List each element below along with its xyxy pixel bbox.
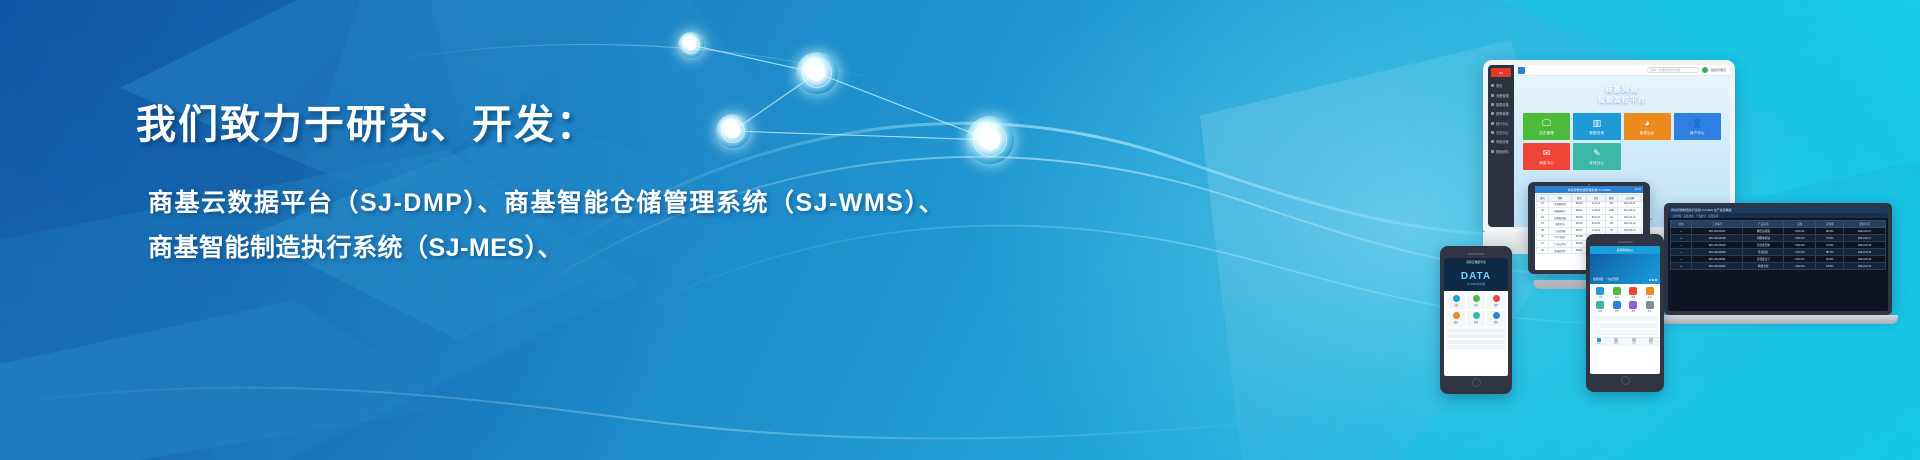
status-dot-icon: ●	[1671, 256, 1692, 263]
table-row[interactable]: 01不锈钢卷料B2103A-01-123202021-03-11	[1537, 201, 1642, 208]
shortcut-cell[interactable]: 我的	[1487, 311, 1505, 326]
shortcut-cell[interactable]: 工单	[1593, 287, 1608, 299]
sidebar-item-label: 首页	[1496, 83, 1502, 88]
table-row[interactable]: ●WO-20210317精密齿轮箱CNC-0198.2%2021-03-17	[1671, 228, 1886, 235]
table-cell: 2021-03-19	[1844, 263, 1886, 270]
nav-dot-icon	[1491, 112, 1494, 115]
tile-label: 日志管理	[1539, 130, 1554, 135]
app-sidebar: SJ 首页 设备管理 数据采集 报警管理 统计中心 日志中心 系统设置 基础资料	[1488, 65, 1514, 227]
carousel-dots	[1649, 279, 1657, 281]
shortcut-label: 采集	[1454, 303, 1458, 307]
topbar-right: 请输入您要搜索的内容 超级管理员	[1647, 67, 1726, 73]
tile-log-management[interactable]: 🖵 日志管理	[1523, 113, 1570, 140]
table-cell: 03	[1537, 214, 1549, 221]
tile-online-office[interactable]: ✎ 在线办公	[1573, 143, 1620, 170]
shortcut-icon	[1629, 287, 1637, 295]
shortcut-cell[interactable]: 报警	[1626, 287, 1641, 299]
table-cell: 06	[1537, 234, 1549, 241]
table-cell: 不锈钢卷料	[1548, 201, 1571, 208]
table-cell: 08	[1537, 247, 1549, 254]
table-header-row: 编号 物料 批次 库位 数量 入库日期	[1537, 195, 1642, 202]
tab-device-status[interactable]: 设备状态	[1683, 214, 1693, 218]
shortcut-cell[interactable]: 分析	[1467, 294, 1485, 309]
table-cell: 高强度法兰	[1743, 256, 1784, 263]
table-cell: 07	[1537, 241, 1549, 248]
speaker-icon	[1468, 253, 1484, 255]
phone-screen: 商基云数据平台 DATA SJ-DMP 移动端 采集分析预警报表设备我的	[1444, 258, 1508, 376]
shortcut-label: 工单	[1598, 296, 1602, 299]
table-cell: 320	[1605, 201, 1618, 208]
table-cell: WO-20210319	[1692, 242, 1743, 249]
tile-user-center[interactable]: 👤 用户中心	[1674, 113, 1721, 140]
list-item[interactable]	[1447, 334, 1505, 338]
office-hero-banner[interactable]: 智能制造 · 一站式管理	[1590, 254, 1660, 284]
shortcut-icon	[1596, 301, 1604, 309]
table-cell: A-02-04	[1587, 208, 1605, 215]
table-cell: 2021-03-17	[1844, 235, 1886, 242]
sidebar-nav: 首页 设备管理 数据采集 报警管理 统计中心 日志中心 系统设置 基础资料	[1488, 81, 1514, 156]
shortcut-label: 消息	[1631, 310, 1635, 313]
laptop-screen: 商基智能制造执行系统 SJ-MES 生产监控看板 工单管理 设备状态 产量统计 …	[1668, 207, 1888, 311]
col-qty: 数量	[1605, 195, 1618, 202]
nav-dot-icon	[1491, 140, 1494, 143]
sidebar-item-label: 报警管理	[1496, 111, 1509, 116]
table-cell: 2021-03-18	[1844, 249, 1886, 256]
chart-icon: ▥	[1593, 119, 1602, 128]
status-dot-icon: ●	[1671, 242, 1692, 249]
shortcut-icon	[1453, 312, 1460, 319]
shortcut-icon	[1646, 301, 1654, 309]
table-row[interactable]: ●WO-20210322精铸支架CNC-0463.8%2021-03-19	[1671, 263, 1886, 270]
table-cell: WO-20210317	[1692, 228, 1743, 235]
monitor-icon: 🖵	[1542, 119, 1551, 128]
sidebar-item[interactable]: 系统设置	[1488, 137, 1514, 146]
table-cell: 2021-03-12	[1618, 208, 1642, 215]
col-location: 库位	[1587, 195, 1605, 202]
laptop-bezel: 商基智能制造执行系统 SJ-MES 生产监控看板 工单管理 设备状态 产量统计 …	[1664, 203, 1892, 315]
wms-titlebar: 商基智能仓储管理系统 SJ-WMS 09:42	[1535, 186, 1643, 193]
tabbar-item[interactable]: 我的	[1643, 338, 1661, 346]
table-cell: 05	[1537, 227, 1549, 234]
table-cell: B2110	[1572, 247, 1587, 254]
app-topbar: 请输入您要搜索的内容 超级管理员	[1514, 65, 1730, 76]
shortcut-cell[interactable]: 库存	[1610, 287, 1625, 299]
table-cell: 76.5%	[1816, 235, 1844, 242]
table-row[interactable]: ●WO-20210318伺服电机轴CNC-0276.5%2021-03-17	[1671, 235, 1886, 242]
tile-admin-backend[interactable]: ◕ 管理后台	[1624, 113, 1671, 140]
table-cell: 63.8%	[1816, 263, 1844, 270]
table-cell: B-01-07	[1587, 214, 1605, 221]
platform-title: 商基网络 智能监控平台	[1514, 76, 1730, 106]
table-cell: 98.2%	[1816, 228, 1844, 235]
clock: 09:42	[1635, 188, 1642, 191]
table-row[interactable]: 03伺服驱动器B2105B-01-07642021-03-12	[1537, 214, 1642, 221]
carousel-dot[interactable]	[1649, 279, 1651, 281]
dmp-shortcut-grid: 采集分析预警报表设备我的	[1444, 291, 1508, 329]
shortcut-cell[interactable]: 报表	[1447, 311, 1465, 326]
shortcut-cell[interactable]: 预警	[1487, 294, 1505, 309]
tab-label: 消息	[1632, 342, 1636, 345]
col-order-no: 工单编号	[1692, 221, 1743, 228]
shortcut-cell[interactable]: 更多	[1643, 301, 1658, 313]
tile-label: 消息中心	[1539, 160, 1554, 165]
sidebar-item[interactable]: 设备管理	[1488, 90, 1514, 99]
tab-label: 首页	[1597, 342, 1601, 345]
shortcut-label: 报警	[1631, 296, 1635, 299]
sidebar-item-label: 基础资料	[1496, 149, 1509, 154]
table-cell: 88.7%	[1816, 249, 1844, 256]
list-item[interactable]	[1447, 329, 1505, 333]
hero-caption: 智能制造 · 一站式管理	[1593, 277, 1619, 281]
mes-title: 商基智能制造执行系统 SJ-MES 生产监控看板	[1671, 208, 1732, 212]
col-material: 物料	[1548, 195, 1571, 202]
office-tabbar: 首页应用消息我的	[1590, 337, 1660, 346]
table-cell: 精铸支架	[1743, 263, 1784, 270]
col-device: 设备	[1784, 221, 1816, 228]
avatar[interactable]	[1702, 67, 1708, 73]
home-button[interactable]	[1621, 376, 1630, 385]
table-cell: 气动元件包	[1548, 241, 1571, 248]
shortcut-icon	[1493, 295, 1500, 302]
shortcut-label: 设备	[1474, 320, 1478, 324]
sidebar-item-label: 设备管理	[1496, 93, 1509, 98]
list-item[interactable]	[1593, 330, 1657, 335]
list-item[interactable]	[1593, 323, 1657, 328]
list-item[interactable]	[1593, 316, 1657, 321]
table-cell: 线性导轨	[1548, 221, 1571, 228]
tile-data-query[interactable]: ▥ 数据查询	[1573, 113, 1620, 140]
table-cell: CNC-07	[1784, 256, 1816, 263]
dashboard-tiles: 🖵 日志管理 ▥ 数据查询 ◕ 管理后台	[1514, 106, 1730, 170]
mes-table: 状态 工单编号 产品名称 设备 完成率 更新时间 ●WO-20210317精密齿…	[1668, 218, 1888, 272]
table-cell: 伺服驱动器	[1548, 214, 1571, 221]
table-cell: A-01-12	[1587, 201, 1605, 208]
table-cell: WO-20210321	[1692, 256, 1743, 263]
table-cell: 150	[1605, 221, 1618, 228]
sidebar-item[interactable]: 首页	[1488, 81, 1514, 90]
banner-product-line-1: 商基云数据平台（SJ-DMP）、商基智能仓储管理系统（SJ-WMS）、	[148, 183, 945, 219]
tab-icon	[1597, 338, 1601, 342]
laptop-base	[1658, 315, 1898, 324]
sidebar-item[interactable]: 基础资料	[1488, 147, 1514, 156]
office-shortcut-grid: 工单库存报警统计设备审批消息更多	[1590, 284, 1660, 316]
tab-output-stats[interactable]: 产量统计	[1696, 214, 1706, 218]
table-row[interactable]: 04线性导轨B2106B-03-021502021-03-13	[1537, 221, 1642, 228]
col-updated: 更新时间	[1844, 221, 1886, 228]
sidebar-item-label: 数据采集	[1496, 102, 1509, 107]
tab-quality-trace[interactable]: 质量追溯	[1708, 214, 1718, 218]
user-icon: 👤	[1692, 119, 1703, 128]
table-cell: 铜接线端子	[1548, 208, 1571, 215]
nav-dot-icon	[1491, 84, 1494, 87]
shortcut-label: 设备	[1598, 310, 1602, 313]
phone-bezel: 商基云数据平台 DATA SJ-DMP 移动端 采集分析预警报表设备我的	[1440, 246, 1512, 394]
table-cell: WO-20210322	[1692, 263, 1743, 270]
nav-dot-icon	[1491, 131, 1494, 134]
table-cell: 2021-03-18	[1844, 242, 1886, 249]
dmp-list	[1444, 329, 1508, 350]
search-input[interactable]: 请输入您要搜索的内容	[1647, 67, 1699, 73]
table-row[interactable]: 02铜接线端子B2104A-02-0412802021-03-12	[1537, 208, 1642, 215]
table-cell: WO-20210318	[1692, 235, 1743, 242]
table-cell: 2021-03-13	[1618, 221, 1642, 228]
shortcut-icon	[1646, 287, 1654, 295]
col-batch: 批次	[1572, 195, 1587, 202]
table-row[interactable]: ●WO-20210319铝合金壳体CNC-0541.0%2021-03-18	[1671, 242, 1886, 249]
shortcut-cell[interactable]: 设备	[1467, 311, 1485, 326]
sidebar-item[interactable]: 统计中心	[1488, 119, 1514, 128]
table-cell: 93.4%	[1816, 256, 1844, 263]
table-cell: 2021-03-19	[1844, 256, 1886, 263]
table-cell: PLC 模块	[1548, 234, 1571, 241]
tile-message-center[interactable]: ✉ 消息中心	[1523, 143, 1570, 170]
carousel-dot[interactable]	[1652, 279, 1654, 281]
shortcut-icon	[1493, 312, 1500, 319]
table-cell: CNC-01	[1784, 228, 1816, 235]
tab-icon	[1649, 338, 1653, 342]
table-cell: 减速机组件	[1548, 247, 1571, 254]
table-header-row: 状态 工单编号 产品名称 设备 完成率 更新时间	[1671, 221, 1886, 228]
table-cell: B2109	[1572, 241, 1587, 248]
tab-icon	[1614, 338, 1618, 342]
status-dot-icon: ●	[1671, 263, 1692, 270]
table-cell: B2104	[1572, 208, 1587, 215]
dmp-hero-sub: SJ-DMP 移动端	[1444, 282, 1508, 286]
banner-headline: 我们致力于研究、开发：	[136, 92, 598, 150]
office-list	[1590, 316, 1660, 335]
device-mockup-cluster: SJ 首页 设备管理 数据采集 报警管理 统计中心 日志中心 系统设置 基础资料	[1300, 0, 1920, 460]
table-cell: WO-20210320	[1692, 249, 1743, 256]
dmp-hero: DATA SJ-DMP 移动端	[1444, 267, 1508, 291]
tabbar-item[interactable]: 应用	[1608, 338, 1626, 346]
table-row[interactable]: ●WO-20210320传动连杆CNC-0388.7%2021-03-18	[1671, 249, 1886, 256]
status-dot-icon: ●	[1671, 228, 1692, 235]
dmp-hero-title: DATA	[1444, 271, 1508, 282]
tab-label: 我的	[1649, 342, 1653, 345]
table-cell: CNC-03	[1784, 249, 1816, 256]
col-progress: 完成率	[1816, 221, 1844, 228]
list-item[interactable]	[1447, 345, 1505, 349]
shortcut-label: 审批	[1615, 310, 1619, 313]
sidebar-item-label: 系统设置	[1496, 139, 1509, 144]
col-product: 产品名称	[1743, 221, 1784, 228]
shortcut-icon	[1613, 301, 1621, 309]
user-label: 超级管理员	[1711, 68, 1726, 72]
shortcut-cell[interactable]: 消息	[1626, 301, 1641, 313]
table-cell: 伺服电机轴	[1743, 235, 1784, 242]
sidebar-item-label: 统计中心	[1496, 121, 1509, 126]
platform-title-line2: 智能监控平台	[1514, 96, 1730, 106]
list-item[interactable]	[1447, 340, 1505, 344]
shortcut-label: 统计	[1648, 296, 1652, 299]
sidebar-item[interactable]: 报警管理	[1488, 109, 1514, 118]
shortcut-label: 我的	[1494, 320, 1498, 324]
table-cell: 2021-03-11	[1618, 201, 1642, 208]
tile-label: 用户中心	[1690, 130, 1705, 135]
shortcut-label: 报表	[1454, 320, 1458, 324]
tile-label: 在线办公	[1589, 160, 1604, 165]
table-cell: B2107	[1572, 227, 1587, 234]
mes-table-body: ●WO-20210317精密齿轮箱CNC-0198.2%2021-03-17●W…	[1671, 228, 1886, 270]
table-cell: B2106	[1572, 221, 1587, 228]
phone-bezel: 商基移动办公 智能制造 · 一站式管理 工单库存报警统计设备审批消息更多	[1586, 234, 1664, 392]
table-row[interactable]: ●WO-20210321高强度法兰CNC-0793.4%2021-03-19	[1671, 256, 1886, 263]
edit-icon: ✎	[1593, 149, 1601, 158]
shortcut-label: 更多	[1648, 310, 1652, 313]
tabbar-item[interactable]: 首页	[1590, 338, 1608, 346]
table-cell: 2021-03-17	[1844, 228, 1886, 235]
nav-dot-icon	[1491, 103, 1494, 106]
mail-icon: ✉	[1543, 149, 1551, 158]
phone-screen: 商基移动办公 智能制造 · 一站式管理 工单库存报警统计设备审批消息更多	[1590, 246, 1660, 374]
table-cell: 02	[1537, 208, 1549, 215]
table-cell: 工业控制柜	[1548, 227, 1571, 234]
nav-dot-icon	[1491, 150, 1494, 153]
sidebar-item[interactable]: 日志中心	[1488, 128, 1514, 137]
app-logo: SJ	[1491, 68, 1511, 77]
table-cell: B2105	[1572, 214, 1587, 221]
nav-dot-icon	[1491, 94, 1494, 97]
table-cell: 41.0%	[1816, 242, 1844, 249]
shortcut-cell[interactable]: 统计	[1643, 287, 1658, 299]
table-cell: 精密齿轮箱	[1743, 228, 1784, 235]
table-cell: B-03-02	[1587, 221, 1605, 228]
tile-label: 管理后台	[1640, 130, 1655, 135]
shortcut-icon	[1473, 312, 1480, 319]
table-cell: 04	[1537, 221, 1549, 228]
sidebar-item-label: 日志中心	[1496, 130, 1509, 135]
platform-title-line1: 商基网络	[1514, 85, 1730, 96]
shortcut-icon	[1613, 287, 1621, 295]
nav-dot-icon	[1491, 122, 1494, 125]
shortcut-cell[interactable]: 审批	[1610, 301, 1625, 313]
table-cell: 1280	[1605, 208, 1618, 215]
laptop-mockup: 商基智能制造执行系统 SJ-MES 生产监控看板 工单管理 设备状态 产量统计 …	[1658, 203, 1898, 324]
wms-title: 商基智能仓储管理系统 SJ-WMS	[1568, 188, 1611, 192]
banner-product-line-2: 商基智能制造执行系统（SJ-MES）、	[148, 228, 563, 264]
shortcut-icon	[1473, 295, 1480, 302]
shortcut-cell[interactable]: 采集	[1447, 294, 1465, 309]
shortcut-label: 分析	[1474, 303, 1478, 307]
carousel-dot[interactable]	[1655, 279, 1657, 281]
table-cell: 铝合金壳体	[1743, 242, 1784, 249]
status-dot-icon: ●	[1671, 249, 1692, 256]
tab-icon	[1632, 338, 1636, 342]
table-cell: B2103	[1572, 201, 1587, 208]
promo-banner: 我们致力于研究、开发： 商基云数据平台（SJ-DMP）、商基智能仓储管理系统（S…	[0, 0, 1920, 460]
table-cell: 2021-03-12	[1618, 214, 1642, 221]
shortcut-icon	[1453, 295, 1460, 302]
table-cell: B2108	[1572, 234, 1587, 241]
col-date: 入库日期	[1618, 195, 1642, 202]
sidebar-item[interactable]: 数据采集	[1488, 100, 1514, 109]
table-cell: 64	[1605, 214, 1618, 221]
shortcut-label: 库存	[1615, 296, 1619, 299]
office-statusbar: 商基移动办公	[1590, 246, 1660, 254]
table-cell: 01	[1537, 201, 1549, 208]
col-status: 状态	[1671, 221, 1692, 228]
tile-label: 数据查询	[1589, 130, 1604, 135]
tab-work-orders[interactable]: 工单管理	[1671, 214, 1681, 218]
col-no: 编号	[1537, 195, 1549, 202]
status-dot-icon: ●	[1671, 235, 1692, 242]
shortcut-label: 预警	[1494, 303, 1498, 307]
shortcut-icon	[1629, 301, 1637, 309]
shortcut-icon	[1596, 287, 1604, 295]
table-cell: CNC-02	[1784, 235, 1816, 242]
table-cell: CNC-05	[1784, 242, 1816, 249]
speaker-icon	[1617, 241, 1633, 243]
home-button[interactable]	[1472, 378, 1481, 387]
tabbar-item[interactable]: 消息	[1625, 338, 1643, 346]
app-grid-icon[interactable]	[1518, 67, 1525, 74]
phone-dmp-mockup: 商基云数据平台 DATA SJ-DMP 移动端 采集分析预警报表设备我的	[1440, 246, 1512, 394]
phone-office-mockup: 商基移动办公 智能制造 · 一站式管理 工单库存报警统计设备审批消息更多	[1586, 234, 1664, 392]
banner-copy: 我们致力于研究、开发： 商基云数据平台（SJ-DMP）、商基智能仓储管理系统（S…	[0, 0, 1000, 460]
tab-label: 应用	[1614, 342, 1618, 345]
dmp-statusbar: 商基云数据平台	[1444, 258, 1508, 267]
table-cell: CNC-04	[1784, 263, 1816, 270]
table-cell: 传动连杆	[1743, 249, 1784, 256]
pie-icon: ◕	[1644, 119, 1649, 128]
shortcut-cell[interactable]: 设备	[1593, 301, 1608, 313]
